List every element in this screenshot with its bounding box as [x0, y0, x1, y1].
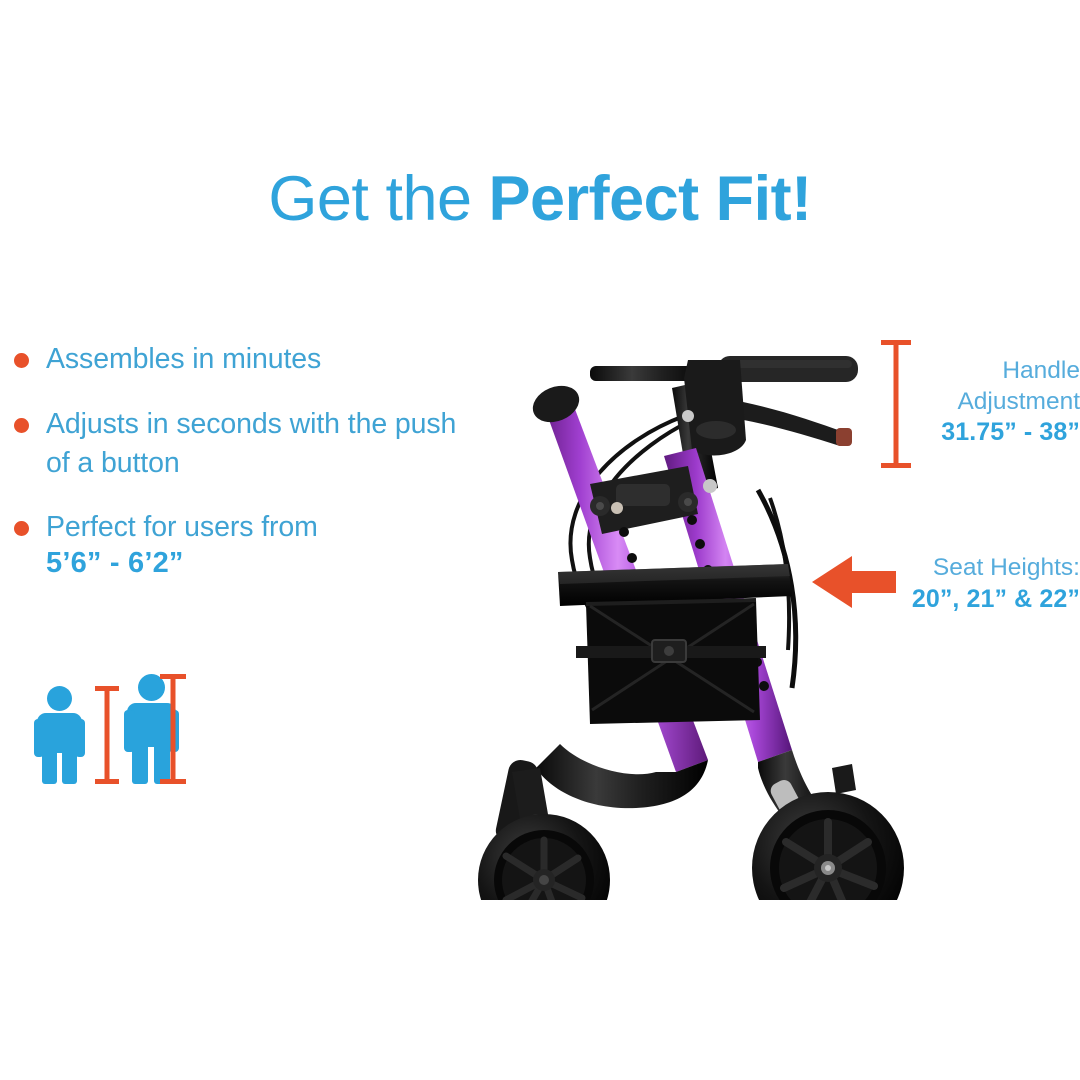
list-item: Adjusts in seconds with the push of a bu… [8, 405, 458, 483]
person-leg-left [42, 746, 57, 784]
list-item: Perfect for users from 5’6” - 6’2” [8, 508, 458, 580]
page-title-light: Get the [268, 164, 488, 234]
measure-stem [894, 340, 899, 468]
person-leg-right [62, 746, 77, 784]
tall-height-measure-icon [160, 674, 186, 784]
handle-adjustment-text: Handle Adjustment 31.75” - 38” [920, 356, 1080, 449]
seat-heights-label: Seat Heights: [933, 554, 1080, 581]
page-title: Get the Perfect Fit! [0, 168, 1080, 231]
seat-heights-text: Seat Heights: 20”, 21” & 22” [904, 553, 1080, 615]
handlebar-grip-texture [724, 360, 852, 368]
bullet-dot-icon [14, 521, 29, 536]
handlebar-assembly [682, 356, 858, 455]
person-leg-left [132, 739, 148, 784]
handle-label-line2: Adjustment [957, 388, 1080, 415]
rear-wheel [752, 792, 904, 900]
measure-cap-bottom [881, 463, 911, 468]
left-arrow-icon [812, 554, 896, 610]
short-person-figure [34, 686, 92, 784]
handle-adjustment-value: 31.75” - 38” [920, 417, 1080, 448]
bullet-dot-icon [14, 418, 29, 433]
short-height-measure-icon [95, 686, 119, 784]
bullet-text: Perfect for users from [46, 508, 458, 547]
measure-stem [105, 686, 110, 784]
measure-cap-bottom [95, 779, 119, 784]
ibeam-measure-icon [881, 340, 911, 468]
bullet-dot-icon [14, 353, 29, 368]
bullet-emphasis-value: 5’6” - 6’2” [46, 547, 458, 580]
page-title-bold: Perfect Fit! [489, 164, 812, 234]
rear-brake-tab [832, 764, 856, 794]
handle-label-line1: Handle [1002, 357, 1080, 384]
measure-cap-bottom [160, 779, 186, 784]
seat-heights-annotation: Seat Heights: 20”, 21” & 22” [812, 545, 1080, 625]
bullet-text: Adjusts in seconds with the push of a bu… [46, 405, 458, 483]
cable-anchor [682, 410, 694, 422]
user-height-illustration [34, 668, 184, 784]
brake-housing-logo [696, 421, 736, 439]
bullet-text: Assembles in minutes [46, 340, 458, 379]
person-head [47, 686, 72, 711]
storage-bag [576, 600, 766, 724]
brake-housing [684, 360, 746, 455]
feature-bullet-list: Assembles in minutes Adjusts in seconds … [8, 340, 458, 606]
brake-lever-tip [836, 428, 852, 446]
list-item: Assembles in minutes [8, 340, 458, 379]
handle-adjustment-annotation: Handle Adjustment 31.75” - 38” [876, 340, 1080, 470]
seat-heights-value: 20”, 21” & 22” [904, 584, 1080, 615]
measure-stem [171, 674, 176, 784]
